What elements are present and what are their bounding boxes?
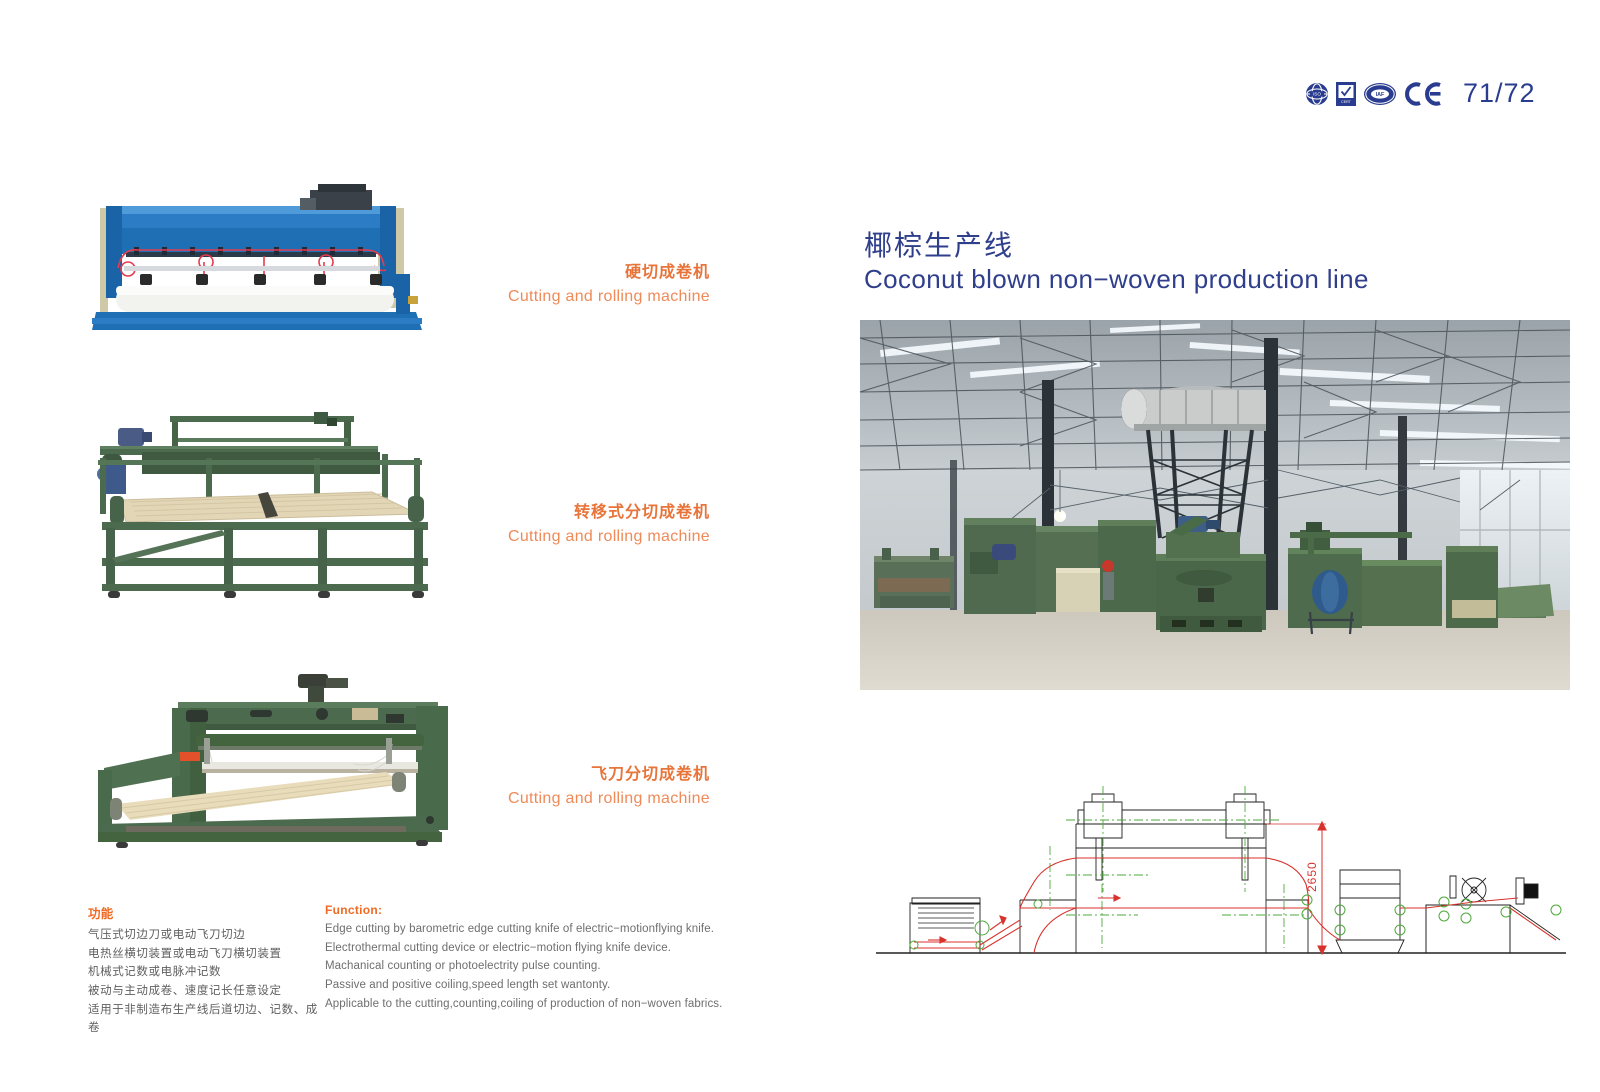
product-caption-1: 硬切成卷机 Cutting and rolling machine	[330, 260, 710, 310]
product-2-title-cn: 转移式分切成卷机	[330, 500, 710, 524]
catalog-page: ISO CERT IAF 71/72	[0, 0, 1600, 1092]
function-block-chinese: 功能 气压式切边刀或电动飞刀切边 电热丝横切装置或电动飞刀横切装置 机械式记数或…	[88, 903, 328, 1037]
function-cn-line-3: 机械式记数或电脉冲记数	[88, 962, 328, 981]
certification-bar: ISO CERT IAF 71/72	[1305, 78, 1536, 109]
function-en-line-5: Applicable to the cutting,counting,coili…	[325, 995, 725, 1014]
check-cert-logo: CERT	[1336, 82, 1356, 106]
product-photo-3	[86, 648, 476, 856]
function-cn-line-2: 电热丝横切装置或电动飞刀横切装置	[88, 944, 328, 963]
function-en-line-2: Electrothermal cutting device or electri…	[325, 939, 725, 958]
product-photo-1	[78, 178, 468, 338]
product-caption-3: 飞刀分切成卷机 Cutting and rolling machine	[330, 762, 710, 812]
product-1-title-en: Cutting and rolling machine	[330, 284, 710, 310]
diagram-dimension-label: 2650	[1305, 861, 1319, 892]
function-en-line-4: Passive and positive coiling,speed lengt…	[325, 976, 725, 995]
page-number: 71/72	[1463, 78, 1536, 109]
function-cn-line-4: 被动与主动成卷、速度记长任意设定	[88, 981, 328, 1000]
product-1-title-cn: 硬切成卷机	[330, 260, 710, 284]
function-en-line-1: Edge cutting by barometric edge cutting …	[325, 920, 725, 939]
section-title-en: Coconut blown non−woven production line	[864, 263, 1369, 297]
function-cn-heading: 功能	[88, 903, 328, 922]
ce-mark	[1404, 81, 1442, 107]
function-en-heading: Function:	[325, 903, 725, 917]
iaf-cert-logo: IAF	[1363, 82, 1397, 106]
section-title-cn: 椰棕生产线	[864, 228, 1369, 263]
function-block-english: Function: Edge cutting by barometric edg…	[325, 903, 725, 1013]
svg-text:IAF: IAF	[1376, 92, 1385, 98]
function-cn-line-5: 适用于非制造布生产线后道切边、记数、成卷	[88, 1000, 328, 1037]
section-title: 椰棕生产线 Coconut blown non−woven production…	[864, 228, 1369, 297]
svg-text:ISO: ISO	[1313, 91, 1321, 96]
function-cn-line-1: 气压式切边刀或电动飞刀切边	[88, 925, 328, 944]
product-3-title-cn: 飞刀分切成卷机	[330, 762, 710, 786]
production-line-diagram: 2650	[870, 780, 1570, 960]
svg-text:CERT: CERT	[1341, 100, 1352, 104]
iso-cert-logo: ISO	[1305, 82, 1329, 106]
product-3-title-en: Cutting and rolling machine	[330, 786, 710, 812]
function-en-line-3: Machanical counting or photoelectrity pu…	[325, 957, 725, 976]
factory-photo	[860, 320, 1570, 690]
product-2-title-en: Cutting and rolling machine	[330, 524, 710, 550]
product-caption-2: 转移式分切成卷机 Cutting and rolling machine	[330, 500, 710, 550]
